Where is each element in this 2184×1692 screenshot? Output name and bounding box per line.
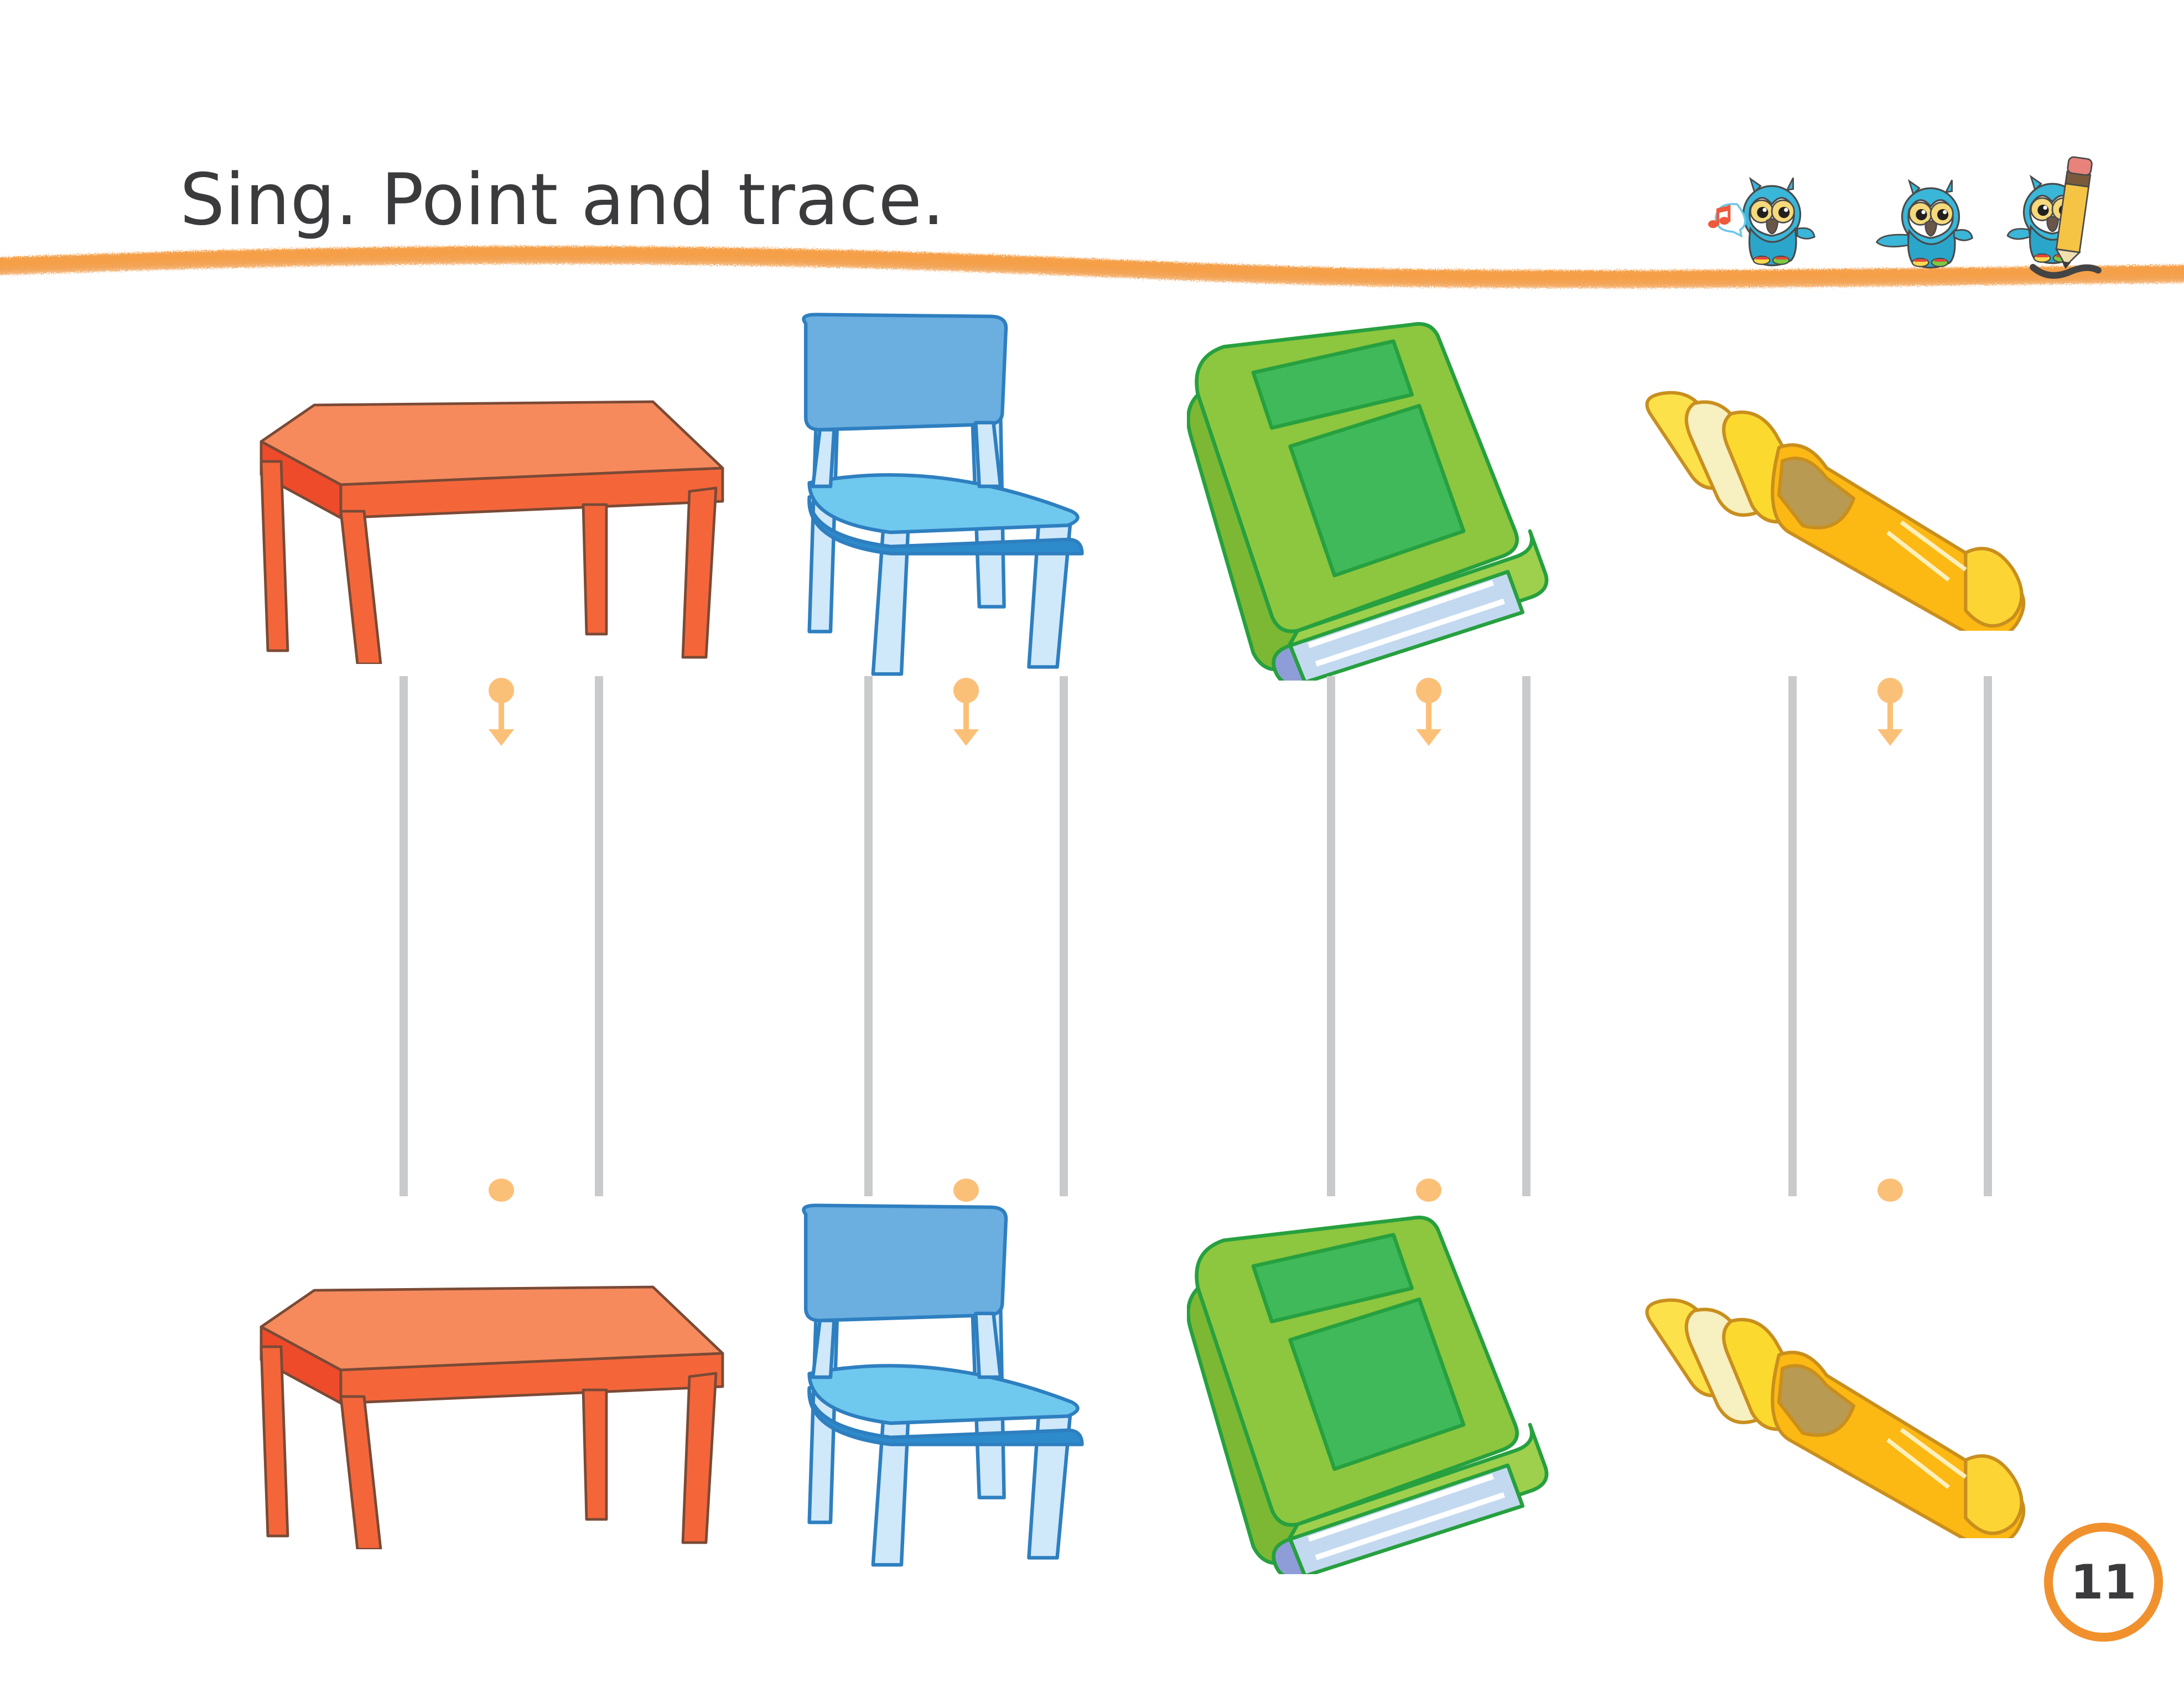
chair-blue-bottom <box>777 1203 1132 1569</box>
lane-rail-left <box>864 676 873 1196</box>
lane-rail-left <box>1327 676 1335 1196</box>
owl-mascot-group <box>1627 141 2136 296</box>
lane-rail-left <box>1788 676 1797 1196</box>
lane-rail-left <box>400 676 408 1196</box>
end-dot-icon <box>1877 1179 1903 1202</box>
worksheet-page: Sing. Point and trace. <box>0 0 2184 1692</box>
crayon-yellow-top <box>1632 376 2075 631</box>
book-green-bottom <box>1187 1214 1574 1574</box>
lane-rail-right <box>1522 676 1531 1196</box>
chair-blue-top <box>777 313 1132 678</box>
start-dot-arrow-icon <box>1871 676 1910 748</box>
trace-lane-2[interactable] <box>864 676 1068 1196</box>
owl-tracing-icon <box>2007 157 2098 276</box>
owl-singing-icon <box>1708 178 1814 265</box>
trace-lane-4[interactable] <box>1788 676 1992 1196</box>
lane-rail-right <box>1984 676 1992 1196</box>
end-dot-icon <box>489 1179 514 1202</box>
trace-lane-1[interactable] <box>400 676 603 1196</box>
end-dot-icon <box>953 1179 979 1202</box>
book-green-top <box>1187 321 1574 681</box>
crayon-yellow-bottom <box>1632 1284 2075 1538</box>
lane-rail-right <box>1060 676 1068 1196</box>
trace-lane-3[interactable] <box>1327 676 1531 1196</box>
start-dot-arrow-icon <box>482 676 521 748</box>
owl-pointing-icon <box>1877 180 1973 267</box>
table-orange-bottom <box>238 1267 736 1549</box>
table-orange-top <box>238 382 736 664</box>
start-dot-arrow-icon <box>1409 676 1448 748</box>
lane-rail-right <box>595 676 603 1196</box>
start-dot-arrow-icon <box>947 676 985 748</box>
page-number: 11 <box>2044 1523 2163 1642</box>
end-dot-icon <box>1416 1179 1441 1202</box>
